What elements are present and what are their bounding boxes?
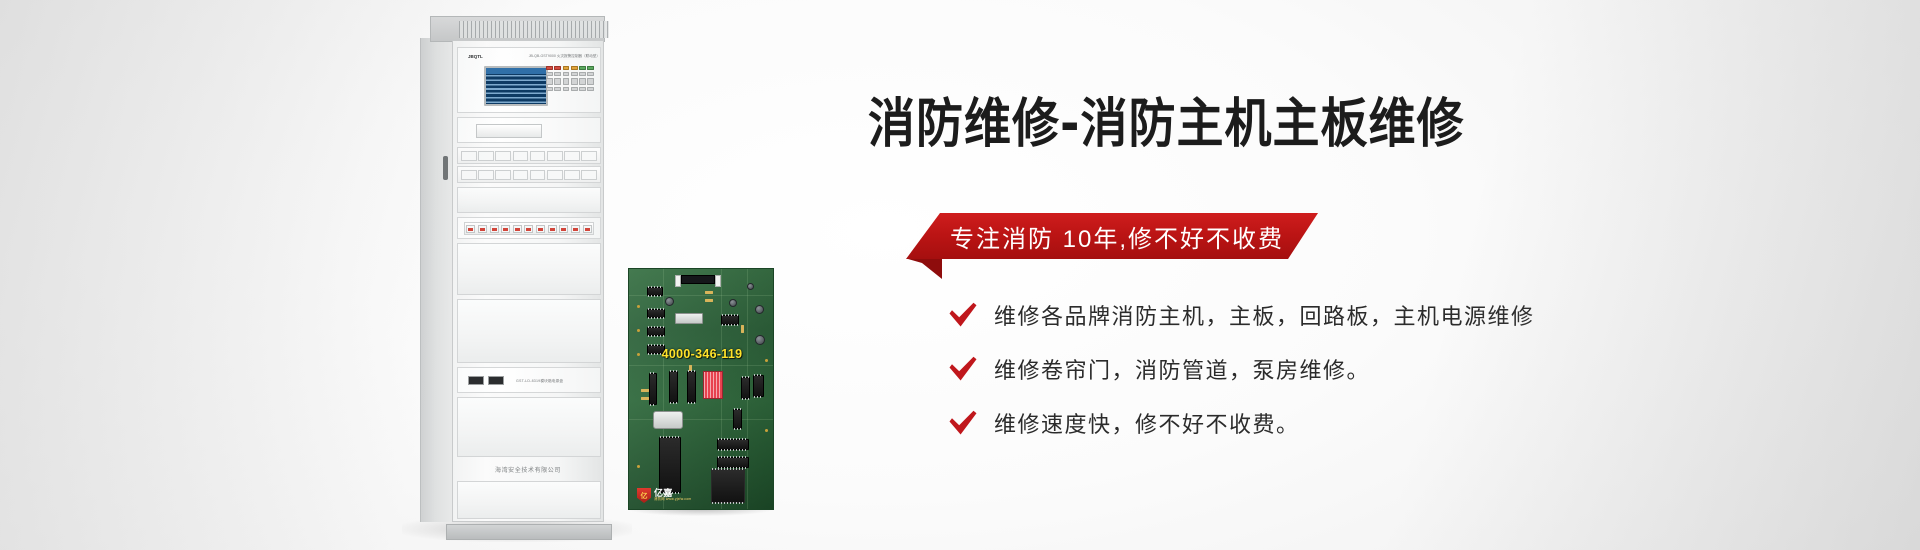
keypad-key[interactable]	[571, 72, 578, 76]
keypad-key[interactable]	[579, 87, 586, 91]
zone-indicator	[490, 225, 499, 233]
keypad-key[interactable]	[579, 72, 586, 76]
loop-module-cell	[530, 151, 546, 161]
keypad-key[interactable]	[571, 78, 578, 85]
pcb-chip	[721, 315, 739, 325]
printer-drawer-panel	[457, 117, 601, 143]
slogan-ribbon: 专注消防 10年,修不好不收费	[906, 213, 1318, 259]
check-icon	[948, 410, 994, 436]
loop-module-cell	[495, 151, 511, 161]
pcb-chip	[687, 371, 696, 403]
pcb-connector	[681, 275, 715, 284]
zone-indicator	[571, 225, 580, 233]
keypad-key[interactable]	[587, 72, 594, 76]
pcb-chip	[753, 375, 764, 397]
ribbon-tail	[908, 259, 942, 279]
fire-alarm-control-panel-cabinet: JBQTL JB-QB-GST9000 火灾报警控制器（联动型）	[420, 16, 610, 536]
loop-module-cell	[478, 151, 494, 161]
list-item: 维修速度快，修不好不收费。	[948, 396, 1868, 450]
keypad-key[interactable]	[546, 66, 553, 70]
keypad-key[interactable]	[587, 66, 594, 70]
lcd-text-lines	[486, 75, 546, 105]
cabinet-side-panel	[420, 38, 454, 522]
fire-panel-mainboard-photo: 4000-346-119 亿 亿嘉 消防网 www.yjxfw.com	[628, 268, 774, 510]
shield-logo-icon: 亿	[637, 488, 651, 503]
lcd-title-bar	[486, 68, 546, 74]
loop-module-cell	[547, 170, 563, 180]
pcb-capacitor	[755, 335, 765, 345]
keypad-key[interactable]	[546, 87, 553, 91]
pcb-connector	[675, 275, 681, 287]
zone-indicator	[466, 225, 475, 233]
keypad-key[interactable]	[554, 72, 561, 76]
cabinet-top-cap	[430, 16, 605, 42]
loop-module-cell	[530, 170, 546, 180]
pcb-watermark-phone: 4000-346-119	[637, 347, 767, 361]
cabinet-vent-grille	[459, 21, 609, 38]
keypad-key[interactable]	[571, 87, 578, 91]
loop-module-cell	[547, 151, 563, 161]
cabinet-brand-left: JBQTL	[468, 54, 483, 59]
zone-indicator	[536, 225, 545, 233]
pcb-capacitor	[729, 299, 737, 307]
pcb-connector	[715, 275, 721, 287]
list-item: 维修卷帘门，消防管道，泵房维修。	[948, 342, 1868, 396]
zone-indicator	[583, 225, 592, 233]
cabinet-brand-row: JBQTL JB-QB-GST9000 火灾报警控制器（联动型）	[468, 54, 600, 63]
cabinet-door-handle	[443, 156, 448, 180]
printer-slot	[476, 124, 542, 138]
zone-indicator	[513, 225, 522, 233]
pcb-chip	[733, 409, 742, 429]
pcb-chip	[741, 377, 750, 399]
check-icon	[948, 302, 994, 328]
power-meter	[488, 376, 504, 385]
pcb-chip	[717, 439, 749, 450]
loop-module-row	[457, 147, 601, 164]
pcb-capacitor	[747, 283, 754, 290]
printed-circuit-board: 4000-346-119 亿 亿嘉 消防网 www.yjxfw.com	[628, 268, 774, 510]
zone-indicator-panel	[457, 217, 601, 239]
loop-module-cell	[513, 151, 529, 161]
keypad-key[interactable]	[579, 78, 586, 85]
loop-module-cell	[564, 151, 580, 161]
list-item: 维修各品牌消防主机，主板，回路板，主机电源维修	[948, 288, 1868, 342]
list-item-label: 维修速度快，修不好不收费。	[994, 407, 1300, 439]
feature-list: 维修各品牌消防主机，主板，回路板，主机电源维修 维修卷帘门，消防管道，泵房维修。…	[948, 288, 1868, 450]
pcb-chip	[647, 309, 665, 318]
loop-module-row	[457, 166, 601, 183]
zone-indicator	[559, 225, 568, 233]
list-item-label: 维修卷帘门，消防管道，泵房维修。	[994, 353, 1370, 385]
zone-indicator-strip	[464, 222, 594, 235]
keypad-key[interactable]	[563, 72, 570, 76]
cabinet-manufacturer-logo: 海湾安全技术有限公司	[453, 465, 603, 474]
banner-content: 消防维修-消防主机主板维修 专注消防 10年,修不好不收费 维修各品牌消防主机，…	[812, 0, 1920, 550]
banner-title: 消防维修-消防主机主板维修	[868, 98, 1465, 151]
pcb-chip	[647, 287, 663, 296]
cabinet-brand-right: JB-QB-GST9000 火灾报警控制器（联动型）	[529, 54, 600, 59]
keypad-key[interactable]	[587, 78, 594, 85]
loop-module-cell	[564, 170, 580, 180]
keypad-key[interactable]	[563, 78, 570, 85]
pcb-capacitor	[755, 305, 764, 314]
pcb-chip	[649, 373, 657, 405]
keypad-key[interactable]	[554, 66, 561, 70]
power-supply-panel: GST-LD-8319模块箱电源盘	[457, 367, 601, 393]
check-icon	[948, 356, 994, 382]
pcb-crystal	[675, 313, 703, 324]
keypad-key[interactable]	[563, 66, 570, 70]
pcb-dip-switch	[703, 371, 723, 399]
pcb-qfp-chip	[711, 469, 745, 503]
loop-module-cell	[478, 170, 494, 180]
keypad-key[interactable]	[563, 87, 570, 91]
loop-module-cell	[461, 151, 477, 161]
keypad-key[interactable]	[554, 78, 561, 85]
pcb-brand-sub: 消防网 www.yjxfw.com	[654, 498, 691, 501]
power-panel-label: GST-LD-8319模块箱电源盘	[516, 379, 563, 384]
pcb-chip	[647, 327, 665, 336]
keypad-key[interactable]	[546, 78, 553, 85]
blank-filler-panel	[457, 481, 601, 519]
keypad-key[interactable]	[571, 66, 578, 70]
blank-filler-panel	[457, 243, 601, 295]
power-meter	[468, 376, 484, 385]
main-controller-panel: JBQTL JB-QB-GST9000 火灾报警控制器（联动型）	[457, 47, 601, 113]
keypad-key[interactable]	[554, 87, 561, 91]
blank-filler-panel	[457, 299, 601, 363]
keypad-key[interactable]	[546, 72, 553, 76]
cabinet-base-plinth	[446, 524, 612, 540]
zone-indicator	[478, 225, 487, 233]
loop-module-cell	[513, 170, 529, 180]
zone-indicator	[501, 225, 510, 233]
blank-filler-panel	[457, 397, 601, 457]
pcb-capacitor	[665, 297, 674, 306]
list-item-label: 维修各品牌消防主机，主板，回路板，主机电源维修	[994, 299, 1535, 331]
pcb-microcontroller	[659, 437, 681, 493]
blank-filler-panel	[457, 187, 601, 213]
zone-indicator	[548, 225, 557, 233]
loop-module-cell	[581, 151, 597, 161]
pcb-chip	[669, 371, 678, 403]
loop-module-cell	[461, 170, 477, 180]
pcb-crystal	[653, 411, 683, 429]
pcb-watermark-logo: 亿 亿嘉 消防网 www.yjxfw.com	[637, 488, 691, 503]
loop-module-cell	[581, 170, 597, 180]
keypad-key[interactable]	[587, 87, 594, 91]
pcb-chip	[717, 457, 749, 468]
loop-module-cell	[495, 170, 511, 180]
controller-keypad[interactable]	[546, 66, 594, 110]
promo-banner: JBQTL JB-QB-GST9000 火灾报警控制器（联动型）	[0, 0, 1920, 550]
keypad-key[interactable]	[579, 66, 586, 70]
ribbon-body: 专注消防 10年,修不好不收费	[906, 213, 1318, 259]
cabinet-front-face: JBQTL JB-QB-GST9000 火灾报警控制器（联动型）	[452, 40, 604, 522]
zone-indicator	[524, 225, 533, 233]
controller-lcd-display	[484, 66, 548, 106]
